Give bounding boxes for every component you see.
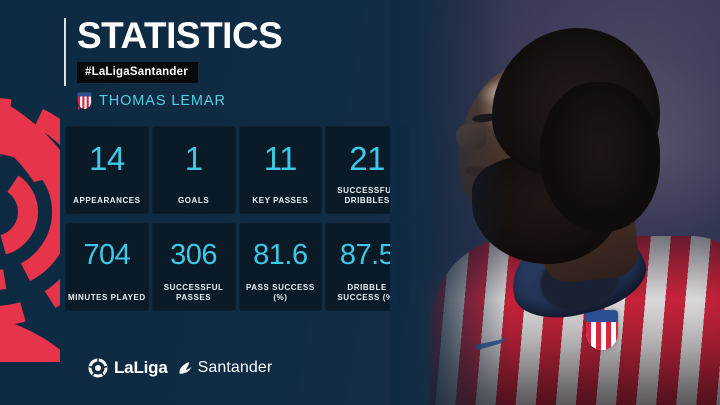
- photo-edge-fade: [390, 0, 510, 405]
- stat-value: 11: [264, 142, 297, 175]
- title-column: STATISTICS #LaLigaSantander THOMAS LEMAR: [77, 18, 282, 110]
- santander-wordmark: Santander: [198, 359, 273, 377]
- stat-card-minutes-played: 704 MINUTES PLAYED: [65, 223, 149, 311]
- content-panel: STATISTICS #LaLigaSantander THOMAS LEMAR: [0, 0, 430, 405]
- stat-label: GOALS: [152, 196, 236, 206]
- stat-value: 306: [170, 239, 217, 272]
- stat-label: KEY PASSES: [239, 196, 323, 206]
- stat-value: 704: [83, 239, 130, 272]
- laliga-circle-logo-icon: [88, 358, 108, 378]
- stat-label: PASS SUCCESS (%): [239, 283, 323, 303]
- stat-card-goals: 1 GOALS: [152, 126, 236, 214]
- stat-value: 81.6: [253, 239, 307, 272]
- stat-card-appearances: 14 APPEARANCES: [65, 126, 149, 214]
- stat-card-pass-success: 81.6 PASS SUCCESS (%): [239, 223, 323, 311]
- player-hair-back: [540, 82, 660, 232]
- stat-value: 21: [349, 142, 385, 175]
- statistics-graphic: STATISTICS #LaLigaSantander THOMAS LEMAR: [0, 0, 720, 405]
- crest-stripes: [586, 322, 618, 350]
- stats-row-2: 704 MINUTES PLAYED 306 SUCCESSFUL PASSES…: [65, 223, 409, 311]
- santander-flame-svg: [177, 360, 193, 376]
- stat-card-successful-passes: 306 SUCCESSFUL PASSES: [152, 223, 236, 311]
- stat-value: 87.5: [340, 239, 394, 272]
- stats-grid: 14 APPEARANCES 1 GOALS 11 KEY PASSES 21 …: [65, 126, 409, 311]
- stat-card-key-passes: 11 KEY PASSES: [239, 126, 323, 214]
- page-title: STATISTICS: [77, 18, 282, 54]
- atletico-madrid-crest-icon: [77, 92, 92, 110]
- footer-logo-lockup: LaLiga Santander: [88, 358, 272, 378]
- santander-flame-icon: [177, 360, 193, 376]
- stat-label: APPEARANCES: [65, 196, 149, 206]
- player-photo: [390, 0, 720, 405]
- stats-row-1: 14 APPEARANCES 1 GOALS 11 KEY PASSES 21 …: [65, 126, 409, 214]
- hashtag-badge: #LaLigaSantander: [77, 62, 198, 83]
- stat-value: 1: [185, 142, 203, 175]
- player-row: THOMAS LEMAR: [77, 92, 282, 110]
- stat-label: SUCCESSFUL PASSES: [152, 283, 236, 303]
- title-accent-bar: [64, 18, 66, 86]
- shirt-club-crest-icon: [586, 310, 618, 350]
- stat-label: MINUTES PLAYED: [65, 293, 149, 303]
- header-block: STATISTICS #LaLigaSantander THOMAS LEMAR: [64, 18, 282, 110]
- stat-value: 14: [89, 142, 125, 175]
- laliga-wordmark: LaLiga: [114, 358, 168, 378]
- player-name: THOMAS LEMAR: [99, 93, 226, 109]
